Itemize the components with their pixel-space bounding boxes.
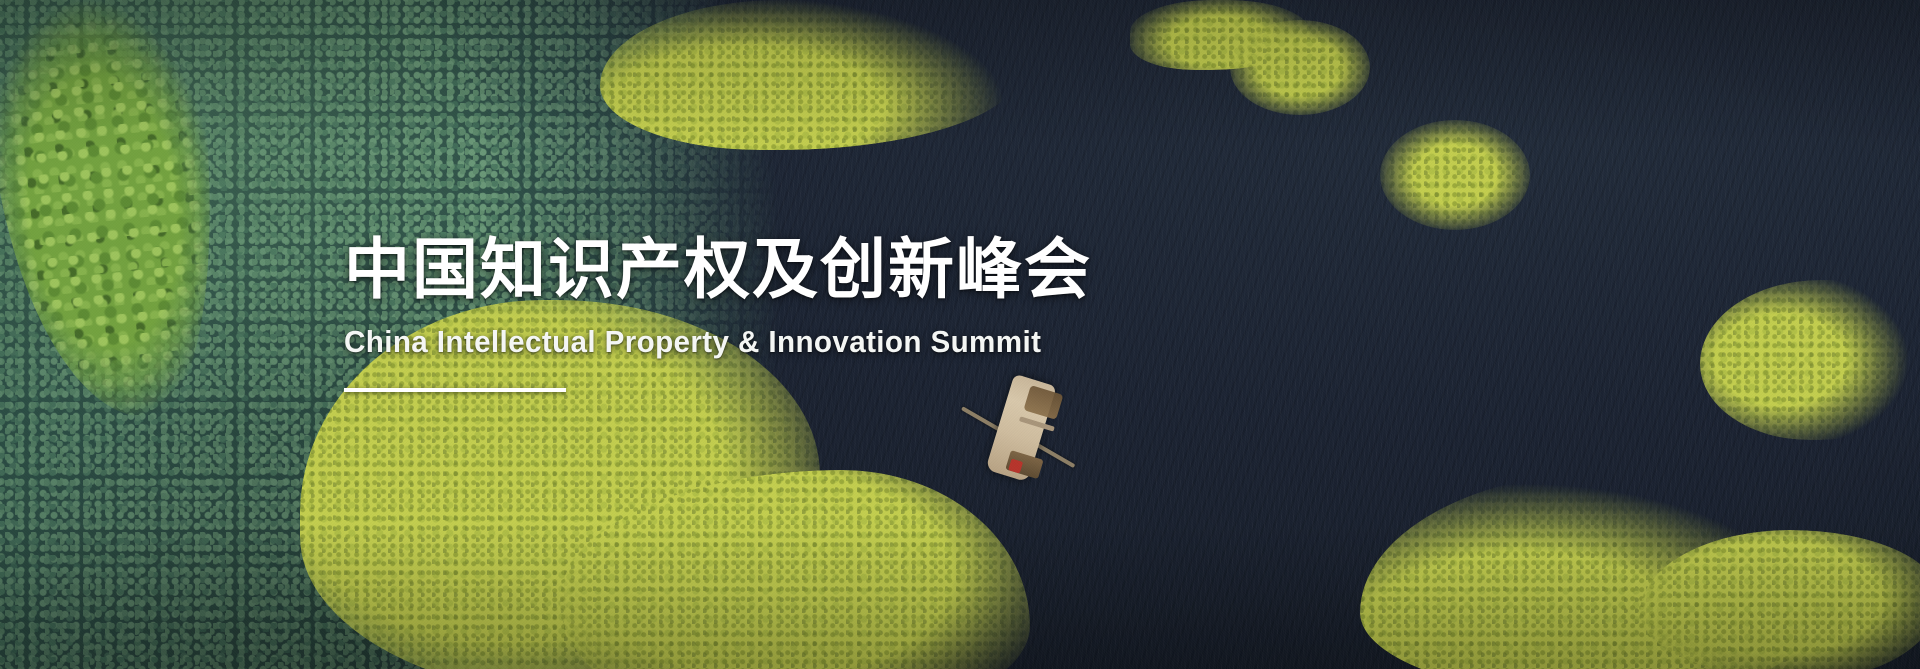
page-title-chinese: 中国知识产权及创新峰会 xyxy=(344,236,1244,302)
hero-banner: 中国知识产权及创新峰会 China Intellectual Property … xyxy=(0,0,1920,669)
headline-block: 中国知识产权及创新峰会 China Intellectual Property … xyxy=(344,236,1244,392)
title-divider-rule xyxy=(344,388,566,392)
page-subtitle-english: China Intellectual Property & Innovation… xyxy=(344,326,1204,359)
